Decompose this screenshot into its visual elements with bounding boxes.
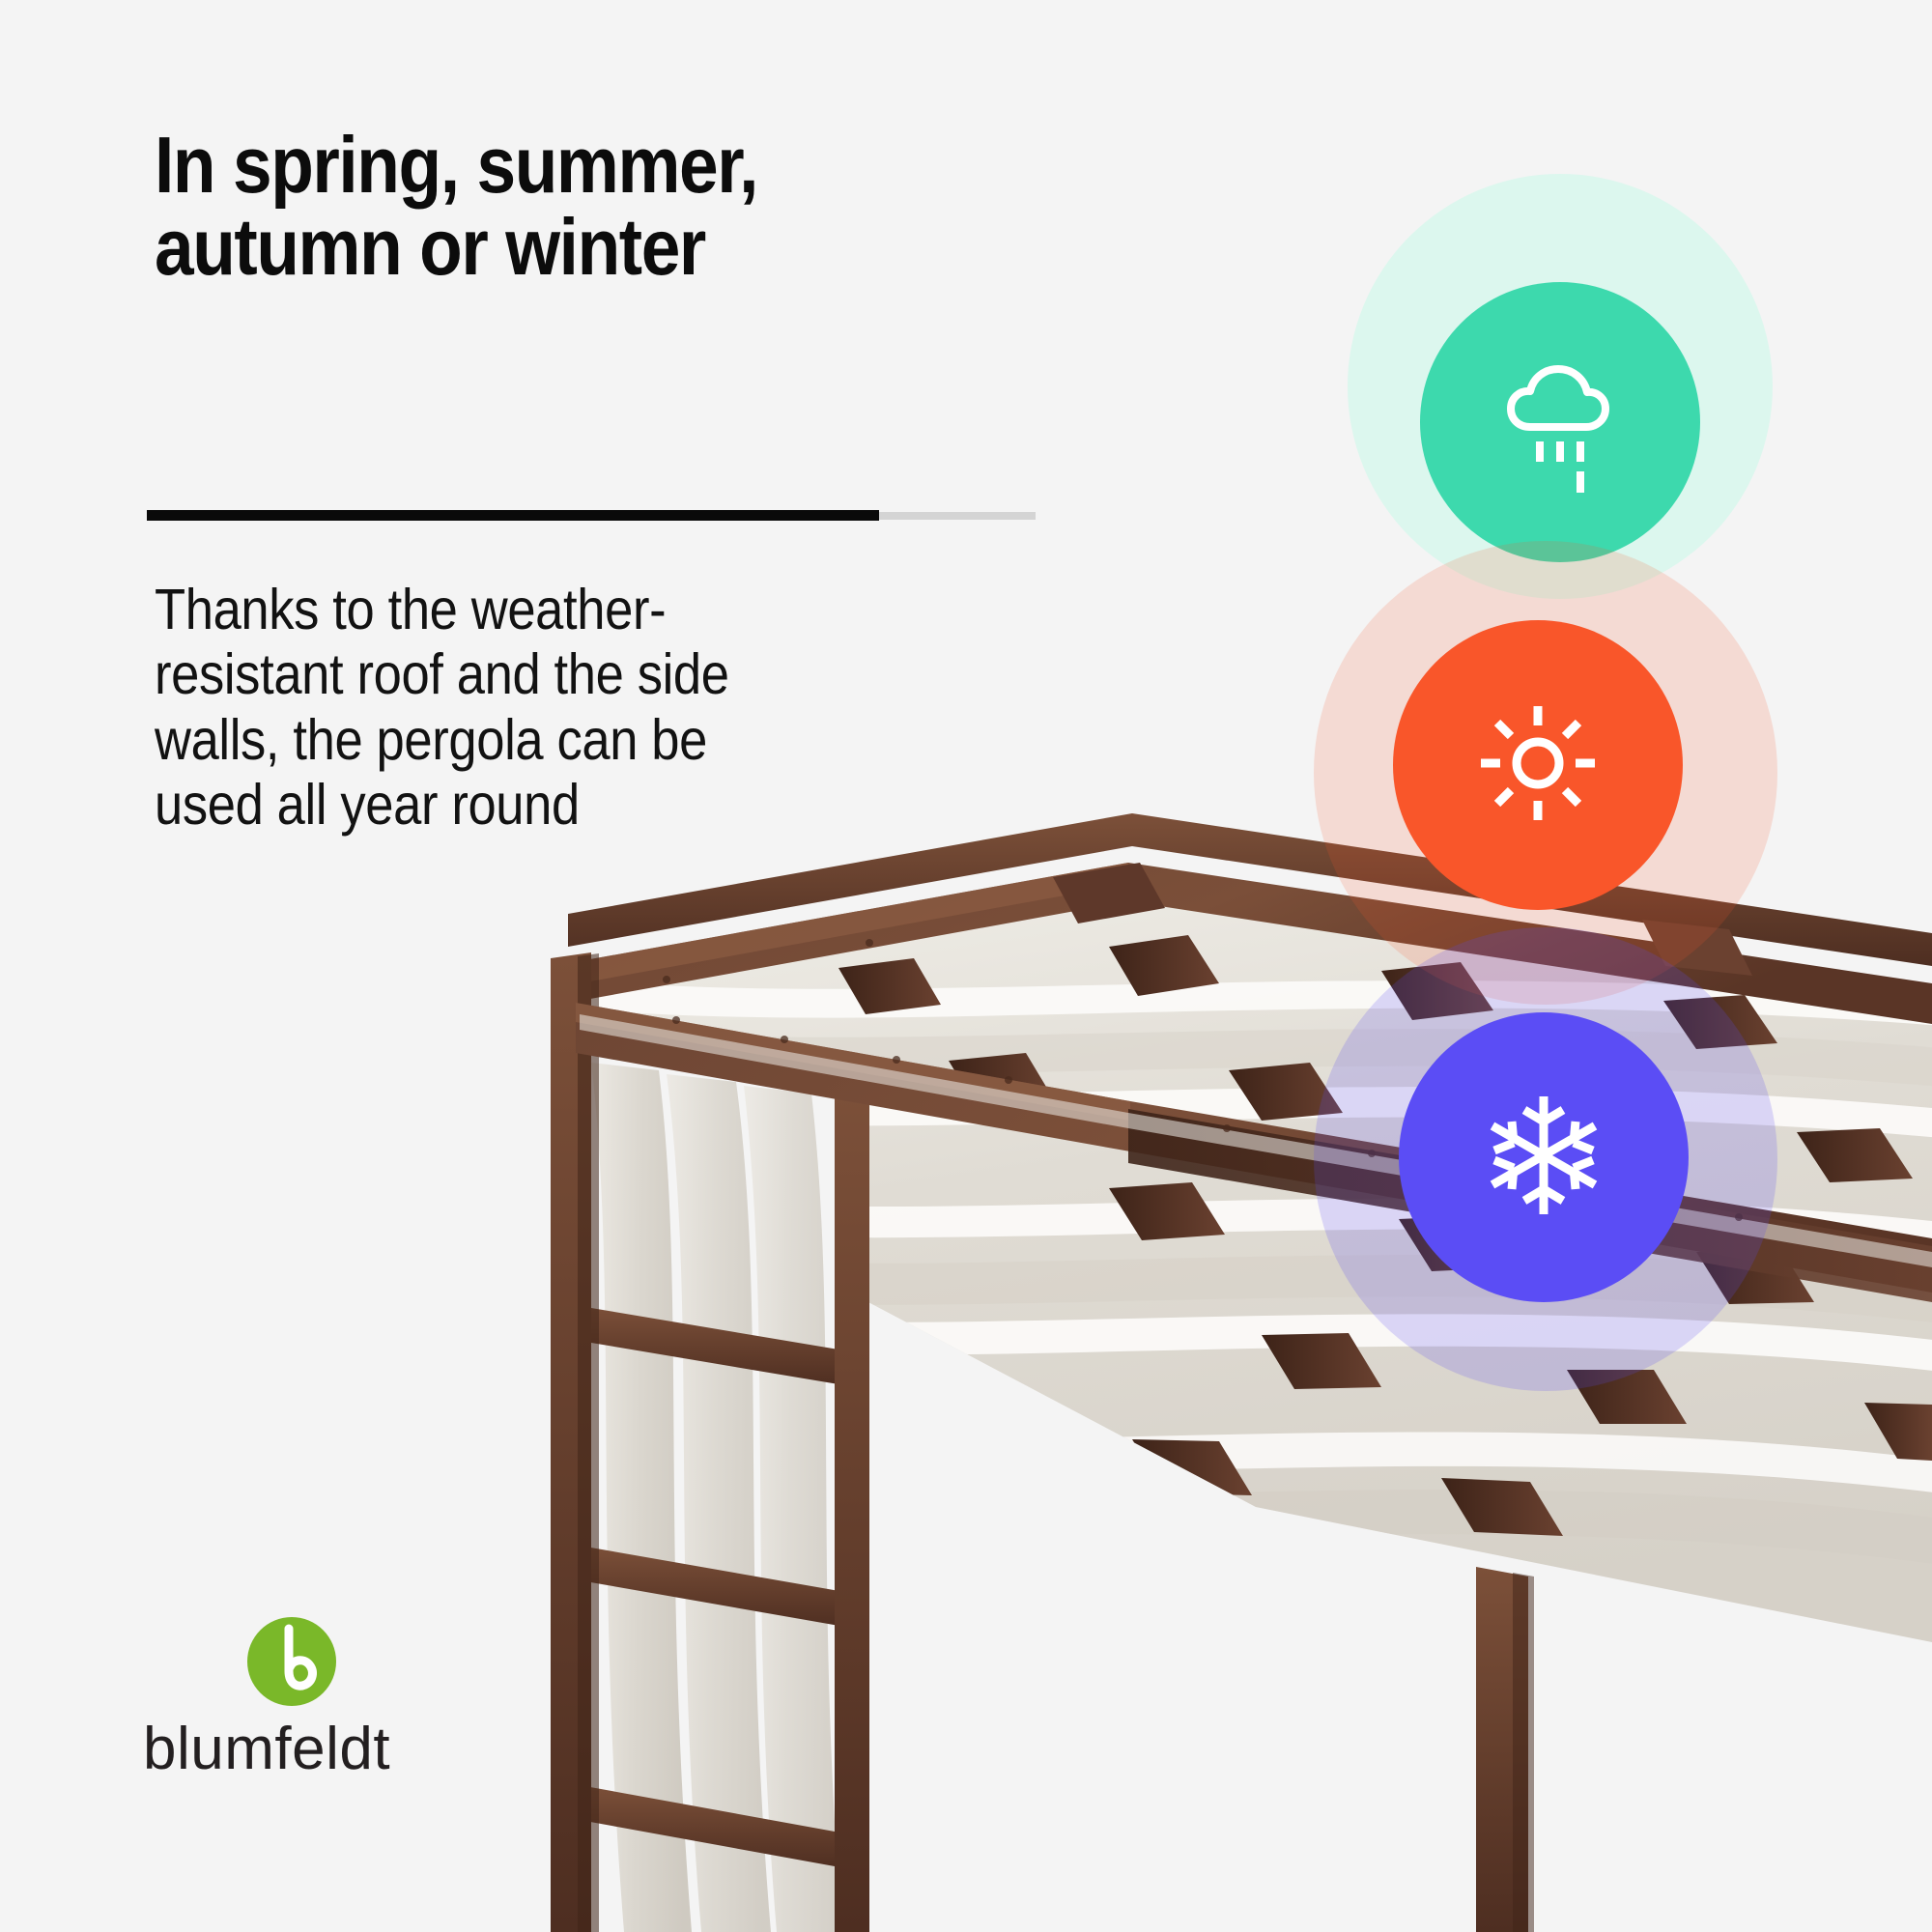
poster-canvas: In spring, summer, autumn or winter Than… bbox=[0, 0, 1932, 1932]
badge-sun-disc bbox=[1393, 620, 1683, 910]
divider-light-segment bbox=[879, 512, 1036, 520]
badge-rain[interactable] bbox=[1348, 174, 1773, 599]
badge-snow[interactable] bbox=[1314, 927, 1777, 1391]
blumfeldt-leaf-icon bbox=[245, 1615, 338, 1708]
divider-dark-segment bbox=[147, 510, 879, 521]
page-title: In spring, summer, autumn or winter bbox=[155, 124, 852, 289]
body-description: Thanks to the weather- resistant roof an… bbox=[155, 578, 808, 838]
sun-icon bbox=[1465, 691, 1610, 840]
brand-logo: blumfeldt bbox=[143, 1615, 462, 1799]
badge-snow-disc bbox=[1399, 1012, 1689, 1302]
rain-cloud-icon bbox=[1488, 348, 1633, 497]
badge-rain-disc bbox=[1420, 282, 1700, 562]
snowflake-icon bbox=[1471, 1083, 1616, 1233]
brand-wordmark: blumfeldt bbox=[143, 1719, 462, 1779]
section-divider bbox=[147, 510, 1036, 521]
